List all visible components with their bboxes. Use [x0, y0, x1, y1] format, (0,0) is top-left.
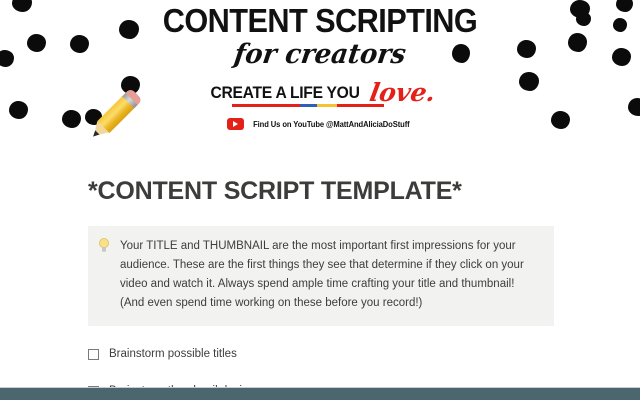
callout-paragraph: Your TITLE and THUMBNAIL are the most im… — [120, 237, 536, 313]
banner-tagline-main: CREATE A LIFE YOU — [211, 84, 360, 101]
banner-subtitle-script: for creators — [11, 41, 629, 68]
checklist-item-label: Brainstorm possible titles — [109, 347, 237, 362]
tagline-color-rule — [232, 104, 384, 107]
banner-tagline-group: CREATE A LIFE YOU love. — [204, 77, 435, 107]
checklist-item[interactable]: Brainstorm possible titles — [88, 326, 640, 362]
checkbox-unchecked-icon[interactable] — [88, 349, 99, 360]
callout-text: Your TITLE and THUMBNAIL are the most im… — [120, 237, 554, 313]
page-title: *CONTENT SCRIPT TEMPLATE* — [88, 177, 640, 206]
callout-box: Your TITLE and THUMBNAIL are the most im… — [88, 226, 554, 326]
lightbulb-icon — [88, 237, 120, 313]
banner-tagline-accent: love. — [368, 80, 438, 105]
document-page: CONTENT SCRIPTING for creators CREATE A … — [0, 0, 640, 400]
youtube-play-icon — [227, 118, 244, 130]
bottom-system-bar — [0, 387, 640, 400]
youtube-handle-text: Find Us on YouTube @MattAndAliciaDoStuff — [253, 120, 409, 129]
document-body: *CONTENT SCRIPT TEMPLATE* Your TITLE and… — [0, 158, 640, 400]
header-banner-image: CONTENT SCRIPTING for creators CREATE A … — [0, 0, 640, 158]
banner-title: CONTENT SCRIPTING — [22, 4, 617, 37]
